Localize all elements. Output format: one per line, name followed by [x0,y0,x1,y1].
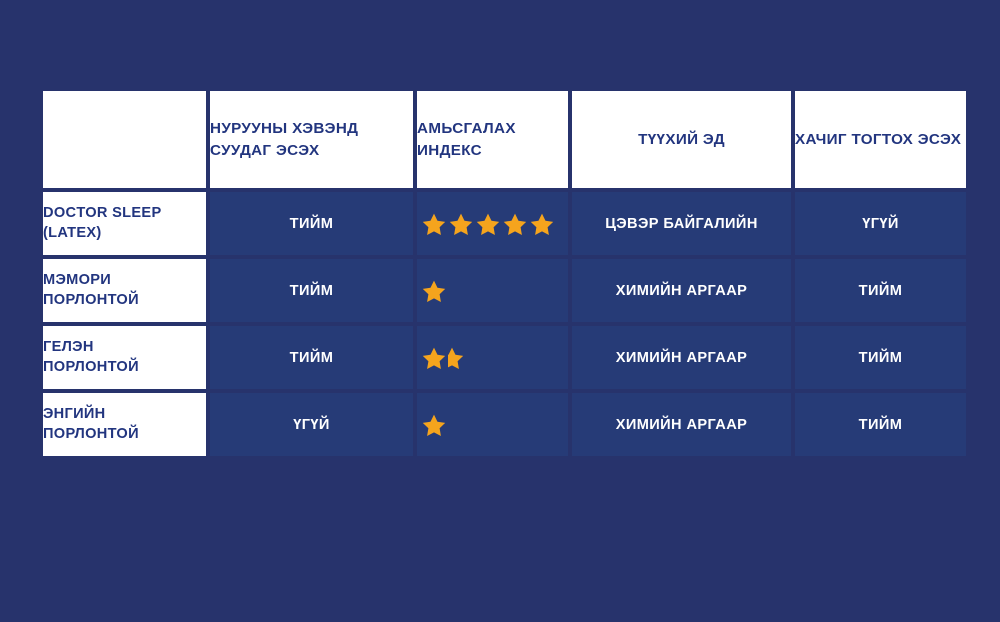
breathability-rating-cell [415,324,570,391]
column-header-breathability-index: АМЬСГАЛАХ ИНДЕКС [415,89,570,190]
raw-material-cell: ХИМИЙН АРГААР [570,391,793,458]
star-icon [529,211,555,237]
table-header: НУРУУНЫ ХЭВЭНД СУУДАГ ЭСЭХ АМЬСГАЛАХ ИНД… [41,89,968,190]
product-name-cell: ЭНГИЙНПОРЛОНТОЙ [41,391,208,458]
star-icon [421,412,447,438]
mite-resistance-cell: ТИЙМ [793,391,968,458]
table-row: ЭНГИЙНПОРЛОНТОЙҮГҮЙХИМИЙН АРГААРТИЙМ [41,391,968,458]
raw-material-cell: ЦЭВЭР БАЙГАЛИЙН [570,190,793,257]
product-name-line: ЭНГИЙН [43,405,206,425]
star-icon [421,345,447,371]
mite-resistance-cell: ТИЙМ [793,257,968,324]
product-name-cell: DOCTOR SLEEP(LATEX) [41,190,208,257]
star-icon [421,211,447,237]
column-header-raw-material: ТҮҮХИЙ ЭД [570,89,793,190]
table-row: ГЕЛЭНПОРЛОНТОЙТИЙМХИМИЙН АРГААРТИЙМ [41,324,968,391]
breathability-rating-cell [415,257,570,324]
star-icon [421,278,447,304]
star-icon [475,211,501,237]
spine-support-cell: ҮГҮЙ [208,391,415,458]
column-header-spine-support: НУРУУНЫ ХЭВЭНД СУУДАГ ЭСЭХ [208,89,415,190]
spine-support-cell: ТИЙМ [208,257,415,324]
product-name-line: ГЕЛЭН [43,338,206,358]
table-row: DOCTOR SLEEP(LATEX)ТИЙМЦЭВЭР БАЙГАЛИЙНҮГ… [41,190,968,257]
table-header-row: НУРУУНЫ ХЭВЭНД СУУДАГ ЭСЭХ АМЬСГАЛАХ ИНД… [41,89,968,190]
product-name-cell: МЭМОРИПОРЛОНТОЙ [41,257,208,324]
spine-support-cell: ТИЙМ [208,190,415,257]
star-partial-icon [448,345,465,371]
breathability-rating-cell [415,391,570,458]
raw-material-cell: ХИМИЙН АРГААР [570,257,793,324]
product-name-line: ПОРЛОНТОЙ [43,358,206,378]
product-name-line: (LATEX) [43,224,206,244]
star-icon [448,211,474,237]
star-icon [502,211,528,237]
column-header-product [41,89,208,190]
star-rating [417,326,568,389]
mite-resistance-cell: ҮГҮЙ [793,190,968,257]
product-name-line: МЭМОРИ [43,271,206,291]
breathability-rating-cell [415,190,570,257]
product-name-line: ПОРЛОНТОЙ [43,425,206,445]
mite-resistance-cell: ТИЙМ [793,324,968,391]
raw-material-cell: ХИМИЙН АРГААР [570,324,793,391]
star-rating [417,259,568,322]
column-header-mite-resistance: ХАЧИГ ТОГТОХ ЭСЭХ [793,89,968,190]
mattress-comparison-table: НУРУУНЫ ХЭВЭНД СУУДАГ ЭСЭХ АМЬСГАЛАХ ИНД… [41,89,968,458]
table-row: МЭМОРИПОРЛОНТОЙТИЙМХИМИЙН АРГААРТИЙМ [41,257,968,324]
product-name-cell: ГЕЛЭНПОРЛОНТОЙ [41,324,208,391]
product-name-line: ПОРЛОНТОЙ [43,291,206,311]
table-body: DOCTOR SLEEP(LATEX)ТИЙМЦЭВЭР БАЙГАЛИЙНҮГ… [41,190,968,458]
product-name-line: DOCTOR SLEEP [43,204,206,224]
spine-support-cell: ТИЙМ [208,324,415,391]
star-rating [417,192,568,255]
star-rating [417,393,568,456]
